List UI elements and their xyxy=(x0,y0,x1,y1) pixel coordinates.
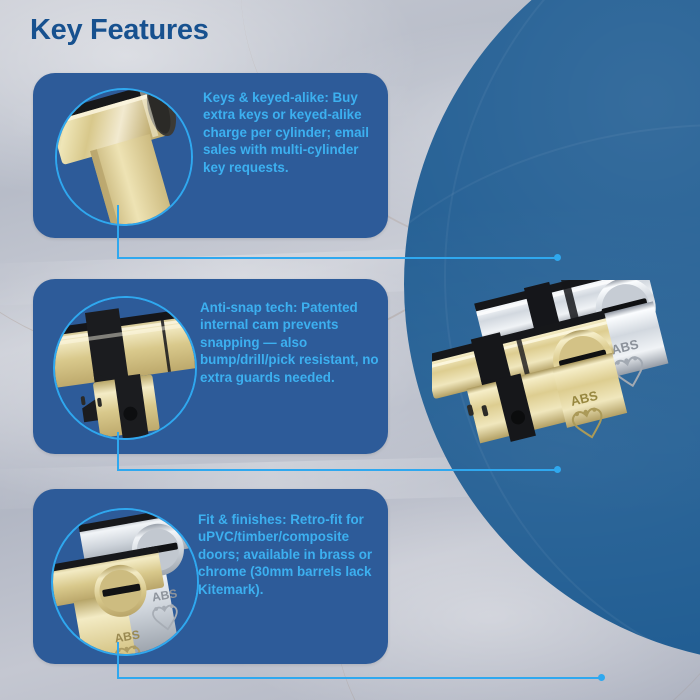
brass-cylinder-closeup-icon xyxy=(55,88,193,226)
feature-card-text: Fit & finishes: Retro-fit for uPVC/timbe… xyxy=(198,511,388,598)
connector-line-1-horizontal xyxy=(117,257,557,259)
connector-line-1-vertical xyxy=(117,205,119,258)
feature-card-anti-snap-tech[interactable]: Anti-snap tech: Patented internal cam pr… xyxy=(33,279,388,454)
connector-line-3-horizontal xyxy=(117,677,601,679)
hero-product-image: ABS xyxy=(432,280,688,470)
page-title: Key Features xyxy=(30,14,209,47)
infographic-canvas: Key Features xyxy=(0,0,700,700)
feature-card-text: Keys & keyed-alike: Buy extra keys or ke… xyxy=(203,89,383,176)
brass-and-chrome-cylinders-icon: ABS ABS xyxy=(51,508,199,656)
connector-dot-1 xyxy=(554,254,561,261)
anti-snap-cam-closeup-icon xyxy=(53,296,197,440)
connector-line-3-vertical xyxy=(117,642,119,678)
feature-card-text: Anti-snap tech: Patented internal cam pr… xyxy=(200,299,385,386)
feature-card-fit-finishes[interactable]: ABS ABS xyxy=(33,489,388,664)
connector-line-2-vertical xyxy=(117,432,119,470)
connector-dot-3 xyxy=(598,674,605,681)
feature-card-keys-keyed-alike[interactable]: Keys & keyed-alike: Buy extra keys or ke… xyxy=(33,73,388,238)
